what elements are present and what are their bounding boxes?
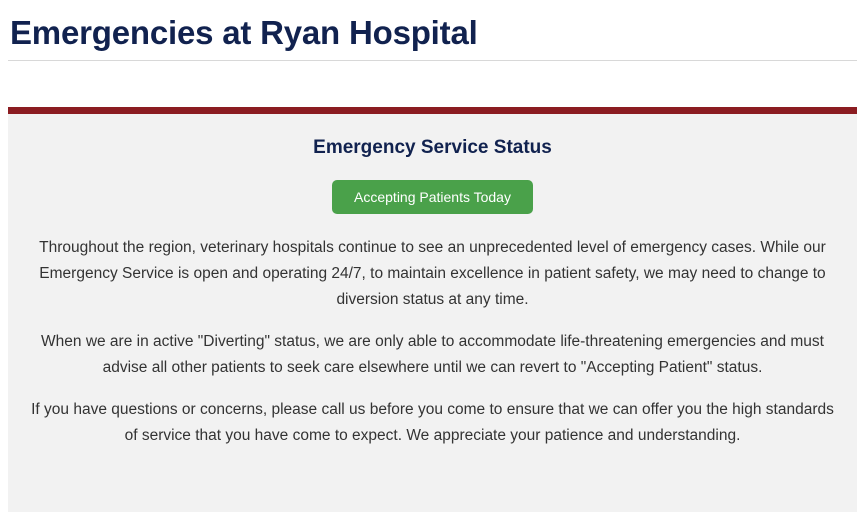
accepting-patients-status-button[interactable]: Accepting Patients Today <box>332 180 533 214</box>
status-button-container: Accepting Patients Today <box>8 159 857 214</box>
status-paragraph-3: If you have questions or concerns, pleas… <box>26 397 839 449</box>
card-body: Throughout the region, veterinary hospit… <box>8 214 857 449</box>
status-paragraph-1: Throughout the region, veterinary hospit… <box>26 235 839 313</box>
card-heading: Emergency Service Status <box>8 114 857 159</box>
page-title: Emergencies at Ryan Hospital <box>0 0 865 53</box>
status-paragraph-2: When we are in active "Diverting" status… <box>26 329 839 381</box>
page-root: Emergencies at Ryan Hospital Emergency S… <box>0 0 865 527</box>
emergency-status-card: Emergency Service Status Accepting Patie… <box>8 107 857 512</box>
title-divider <box>8 60 857 61</box>
